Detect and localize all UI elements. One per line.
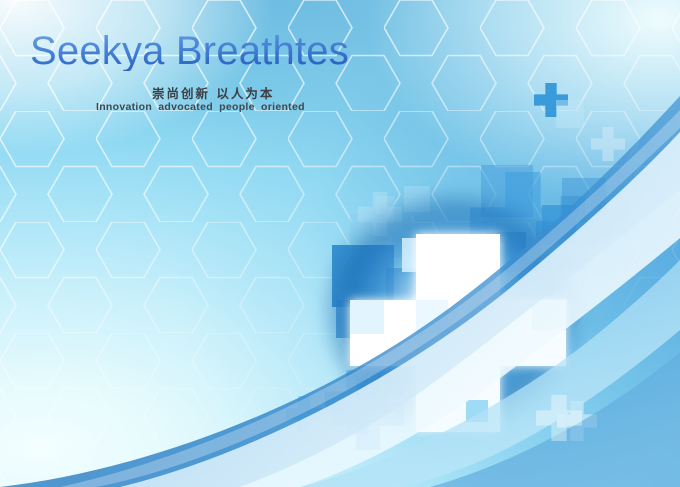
slogan-chinese: 崇尚创新 以人为本 [152, 83, 274, 102]
slogan-english: Innovation advocated people oriented [96, 101, 305, 113]
ribbon-accent-cross [0, 0, 680, 487]
poster-canvas: Seekya Breathtes 崇尚创新 以人为本 Innovation ad… [0, 0, 680, 487]
page-title: Seekya Breathtes [30, 31, 349, 71]
